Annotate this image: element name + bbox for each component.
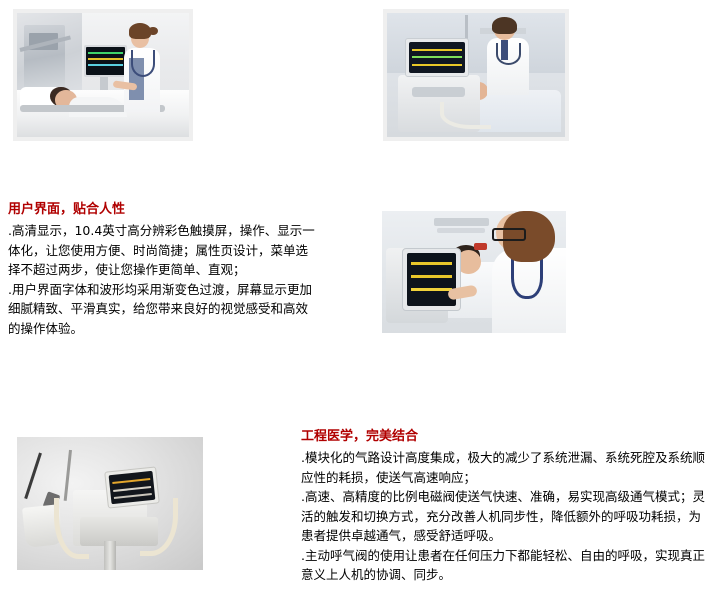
monitor-screen — [109, 471, 156, 505]
background-shelf — [434, 218, 489, 225]
waveform-trace — [412, 49, 461, 51]
support-arm — [25, 452, 43, 498]
patient-monitor — [84, 45, 127, 77]
photo-ventilator-unit — [17, 437, 203, 570]
section-engineering-medicine: 工程医学，完美结合 .模块化的气路设计高度集成，极大的减少了系统泄漏、系统死腔及… — [301, 428, 707, 585]
photo-clinician-using-touchscreen — [382, 211, 566, 333]
product-feature-page: 用户界面，贴合人性 .高清显示，10.4英寸高分辨彩色触摸屏，操作、显示一体化，… — [0, 0, 713, 610]
red-marker — [474, 243, 487, 250]
pole-stand — [104, 541, 115, 570]
ventilator-display — [104, 466, 160, 508]
monitor-screen — [409, 42, 465, 74]
section-paragraph: .高清显示，10.4英寸高分辨彩色触摸屏，操作、显示一体化，让您使用方便、时尚简… — [8, 221, 320, 280]
stethoscope-icon — [131, 50, 156, 77]
section-paragraph: .模块化的气路设计高度集成，极大的减少了系统泄漏、系统死腔及系统顺应性的耗损，使… — [301, 448, 707, 487]
waveform-trace — [112, 478, 151, 484]
waveform-trace — [411, 262, 452, 265]
section-body: .模块化的气路设计高度集成，极大的减少了系统泄漏、系统死腔及系统顺应性的耗损，使… — [301, 448, 707, 585]
waveform-trace — [412, 56, 461, 58]
monitor-screen — [86, 47, 125, 75]
photo-bedside-consultation — [13, 9, 193, 141]
photo-frame — [13, 9, 193, 141]
breathing-hose — [140, 498, 178, 556]
photo-scene — [387, 13, 565, 137]
doctor-hair-bun — [148, 27, 158, 36]
background-shelf — [437, 228, 485, 233]
section-heading: 用户界面，贴合人性 — [8, 201, 320, 219]
photo-scene — [382, 211, 566, 333]
photo-frame — [382, 211, 566, 333]
section-paragraph: .用户界面字体和波形均采用渐变色过渡，屏幕显示更加细腻精致、平滑真实，给您带来良… — [8, 280, 320, 339]
support-arm — [64, 450, 72, 501]
photo-scene — [17, 13, 189, 137]
glasses-icon — [492, 228, 525, 241]
section-heading: 工程医学，完美结合 — [301, 428, 707, 446]
photo-frame — [17, 437, 203, 570]
photo-scene — [17, 437, 203, 570]
stethoscope-icon — [496, 43, 521, 65]
section-body: .高清显示，10.4英寸高分辨彩色触摸屏，操作、显示一体化，让您使用方便、时尚简… — [8, 221, 320, 338]
background-equipment — [24, 25, 65, 89]
waveform-trace — [113, 485, 152, 491]
ventilator-touchscreen — [402, 248, 461, 311]
ventilator-tray — [412, 87, 465, 97]
waveform-trace — [412, 64, 461, 66]
section-user-interface: 用户界面，贴合人性 .高清显示，10.4英寸高分辨彩色触摸屏，操作、显示一体化，… — [8, 201, 320, 338]
section-paragraph: .主动呼气阀的使用让患者在任何压力下都能轻松、自由的呼吸，实现真正意义上人机的协… — [301, 546, 707, 585]
photo-ventilator-with-patient — [383, 9, 569, 141]
waveform-trace — [411, 275, 452, 278]
photo-frame — [383, 9, 569, 141]
section-paragraph: .高速、高精度的比例电磁阀使送气快速、准确，易实现高级通气模式；灵活的触发和切换… — [301, 487, 707, 546]
doctor-hair — [492, 17, 517, 34]
waveform-trace — [114, 492, 153, 498]
ventilator-touchscreen — [405, 38, 469, 78]
waveform-trace — [411, 288, 452, 291]
